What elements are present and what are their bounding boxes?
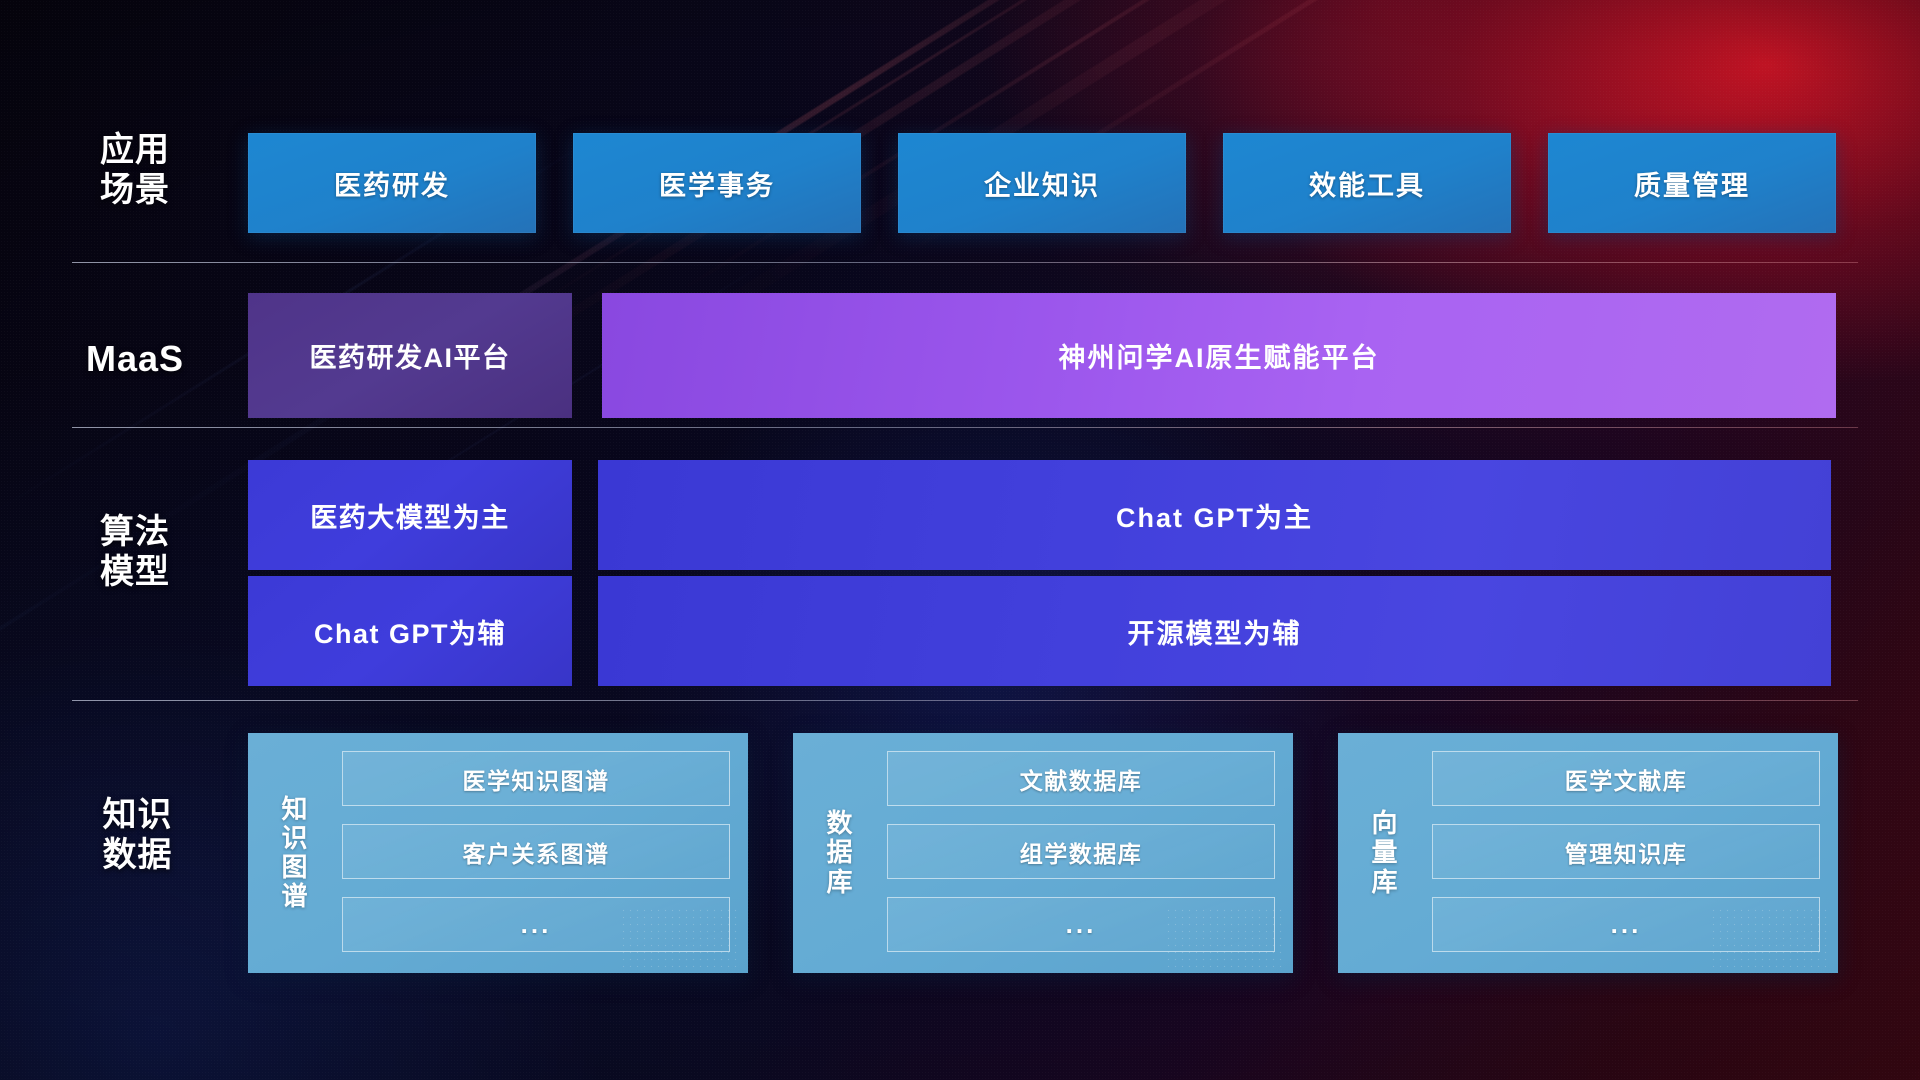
knowledge-item[interactable]: 组学数据库 — [887, 824, 1275, 879]
algo-card-chatgpt-secondary[interactable]: Chat GPT为辅 — [248, 576, 572, 686]
knowledge-item-label: ... — [1611, 909, 1642, 940]
knowledge-item-label: 管理知识库 — [1565, 835, 1688, 869]
app-card-label: 效能工具 — [1309, 164, 1425, 203]
knowledge-panel-title-char: 知 — [281, 795, 308, 824]
knowledge-item-more[interactable]: ... — [342, 897, 730, 952]
knowledge-item[interactable]: 文献数据库 — [887, 751, 1275, 806]
knowledge-panel-title: 向 量 库 — [1356, 769, 1414, 937]
knowledge-panel-title-char: 识 — [281, 824, 308, 853]
row-label-line: 应用 — [75, 130, 195, 170]
slide-canvas: 应用 场景 医药研发 医学事务 企业知识 效能工具 质量管理 MaaS 医药研发… — [0, 0, 1920, 1080]
knowledge-panel-title-char: 图 — [281, 853, 308, 882]
app-card-medicine-rd[interactable]: 医药研发 — [248, 133, 536, 233]
app-card-medical-affairs[interactable]: 医学事务 — [573, 133, 861, 233]
algo-card-label: 医药大模型为主 — [310, 496, 510, 535]
knowledge-item-label: ... — [521, 909, 552, 940]
knowledge-item-label: 文献数据库 — [1020, 762, 1143, 796]
algo-card-medicine-large-model-primary[interactable]: 医药大模型为主 — [248, 460, 572, 570]
divider-line-1 — [72, 262, 1858, 263]
knowledge-panel-title-char: 据 — [826, 838, 853, 867]
knowledge-item-label: 医学知识图谱 — [463, 762, 610, 796]
app-card-efficiency-tools[interactable]: 效能工具 — [1223, 133, 1511, 233]
knowledge-panel-title: 知 识 图 谱 — [266, 753, 324, 953]
knowledge-panel-title-char: 量 — [1371, 838, 1398, 867]
knowledge-item-more[interactable]: ... — [1432, 897, 1820, 952]
app-card-label: 质量管理 — [1634, 164, 1750, 203]
row-label-knowledge-data: 知识 数据 — [70, 795, 205, 875]
knowledge-item[interactable]: 客户关系图谱 — [342, 824, 730, 879]
knowledge-panel-vector-store[interactable]: 向 量 库 医学文献库 管理知识库 ... — [1338, 733, 1838, 973]
knowledge-panel-title-char: 库 — [1371, 868, 1398, 897]
knowledge-item-label: 医学文献库 — [1565, 762, 1688, 796]
row-label-line: 算法 — [75, 512, 195, 552]
row-label-line: 数据 — [70, 835, 205, 875]
algo-card-label: 开源模型为辅 — [1128, 612, 1302, 651]
algo-card-label: Chat GPT为主 — [1116, 496, 1313, 535]
maas-card-medicine-rd-ai-platform[interactable]: 医药研发AI平台 — [248, 293, 572, 418]
knowledge-item[interactable]: 医学知识图谱 — [342, 751, 730, 806]
algo-card-open-source-secondary[interactable]: 开源模型为辅 — [598, 576, 1831, 686]
row-label-line: MaaS — [70, 338, 200, 380]
knowledge-panel-title-char: 数 — [826, 809, 853, 838]
algo-card-chatgpt-primary[interactable]: Chat GPT为主 — [598, 460, 1831, 570]
knowledge-item-more[interactable]: ... — [887, 897, 1275, 952]
row-label-maas: MaaS — [70, 338, 200, 380]
row-label-line: 知识 — [70, 795, 205, 835]
app-card-label: 医学事务 — [659, 164, 775, 203]
maas-card-label: 医药研发AI平台 — [310, 336, 511, 375]
maas-card-shenzhou-wenxue-platform[interactable]: 神州问学AI原生赋能平台 — [602, 293, 1836, 418]
algo-card-label: Chat GPT为辅 — [314, 612, 506, 651]
divider-line-3 — [72, 700, 1858, 701]
row-label-application-scenarios: 应用 场景 — [75, 130, 195, 210]
divider-line-2 — [72, 427, 1858, 428]
app-card-quality-management[interactable]: 质量管理 — [1548, 133, 1836, 233]
app-card-enterprise-knowledge[interactable]: 企业知识 — [898, 133, 1186, 233]
row-label-algorithm-model: 算法 模型 — [75, 512, 195, 592]
knowledge-item-label: ... — [1066, 909, 1097, 940]
knowledge-panel-title-char: 库 — [826, 868, 853, 897]
knowledge-panel-database[interactable]: 数 据 库 文献数据库 组学数据库 ... — [793, 733, 1293, 973]
row-label-line: 模型 — [75, 552, 195, 592]
app-card-label: 企业知识 — [984, 164, 1100, 203]
diagram-content: 应用 场景 医药研发 医学事务 企业知识 效能工具 质量管理 MaaS 医药研发… — [0, 0, 1920, 1080]
knowledge-panel-title-char: 谱 — [281, 882, 308, 911]
knowledge-item-label: 组学数据库 — [1020, 835, 1143, 869]
row-label-line: 场景 — [75, 170, 195, 210]
knowledge-item-label: 客户关系图谱 — [463, 835, 610, 869]
knowledge-panel-title: 数 据 库 — [811, 769, 869, 937]
knowledge-item[interactable]: 医学文献库 — [1432, 751, 1820, 806]
app-card-label: 医药研发 — [334, 164, 450, 203]
maas-card-label: 神州问学AI原生赋能平台 — [1059, 336, 1380, 375]
knowledge-panel-knowledge-graph[interactable]: 知 识 图 谱 医学知识图谱 客户关系图谱 ... — [248, 733, 748, 973]
knowledge-item[interactable]: 管理知识库 — [1432, 824, 1820, 879]
knowledge-panel-title-char: 向 — [1371, 809, 1398, 838]
